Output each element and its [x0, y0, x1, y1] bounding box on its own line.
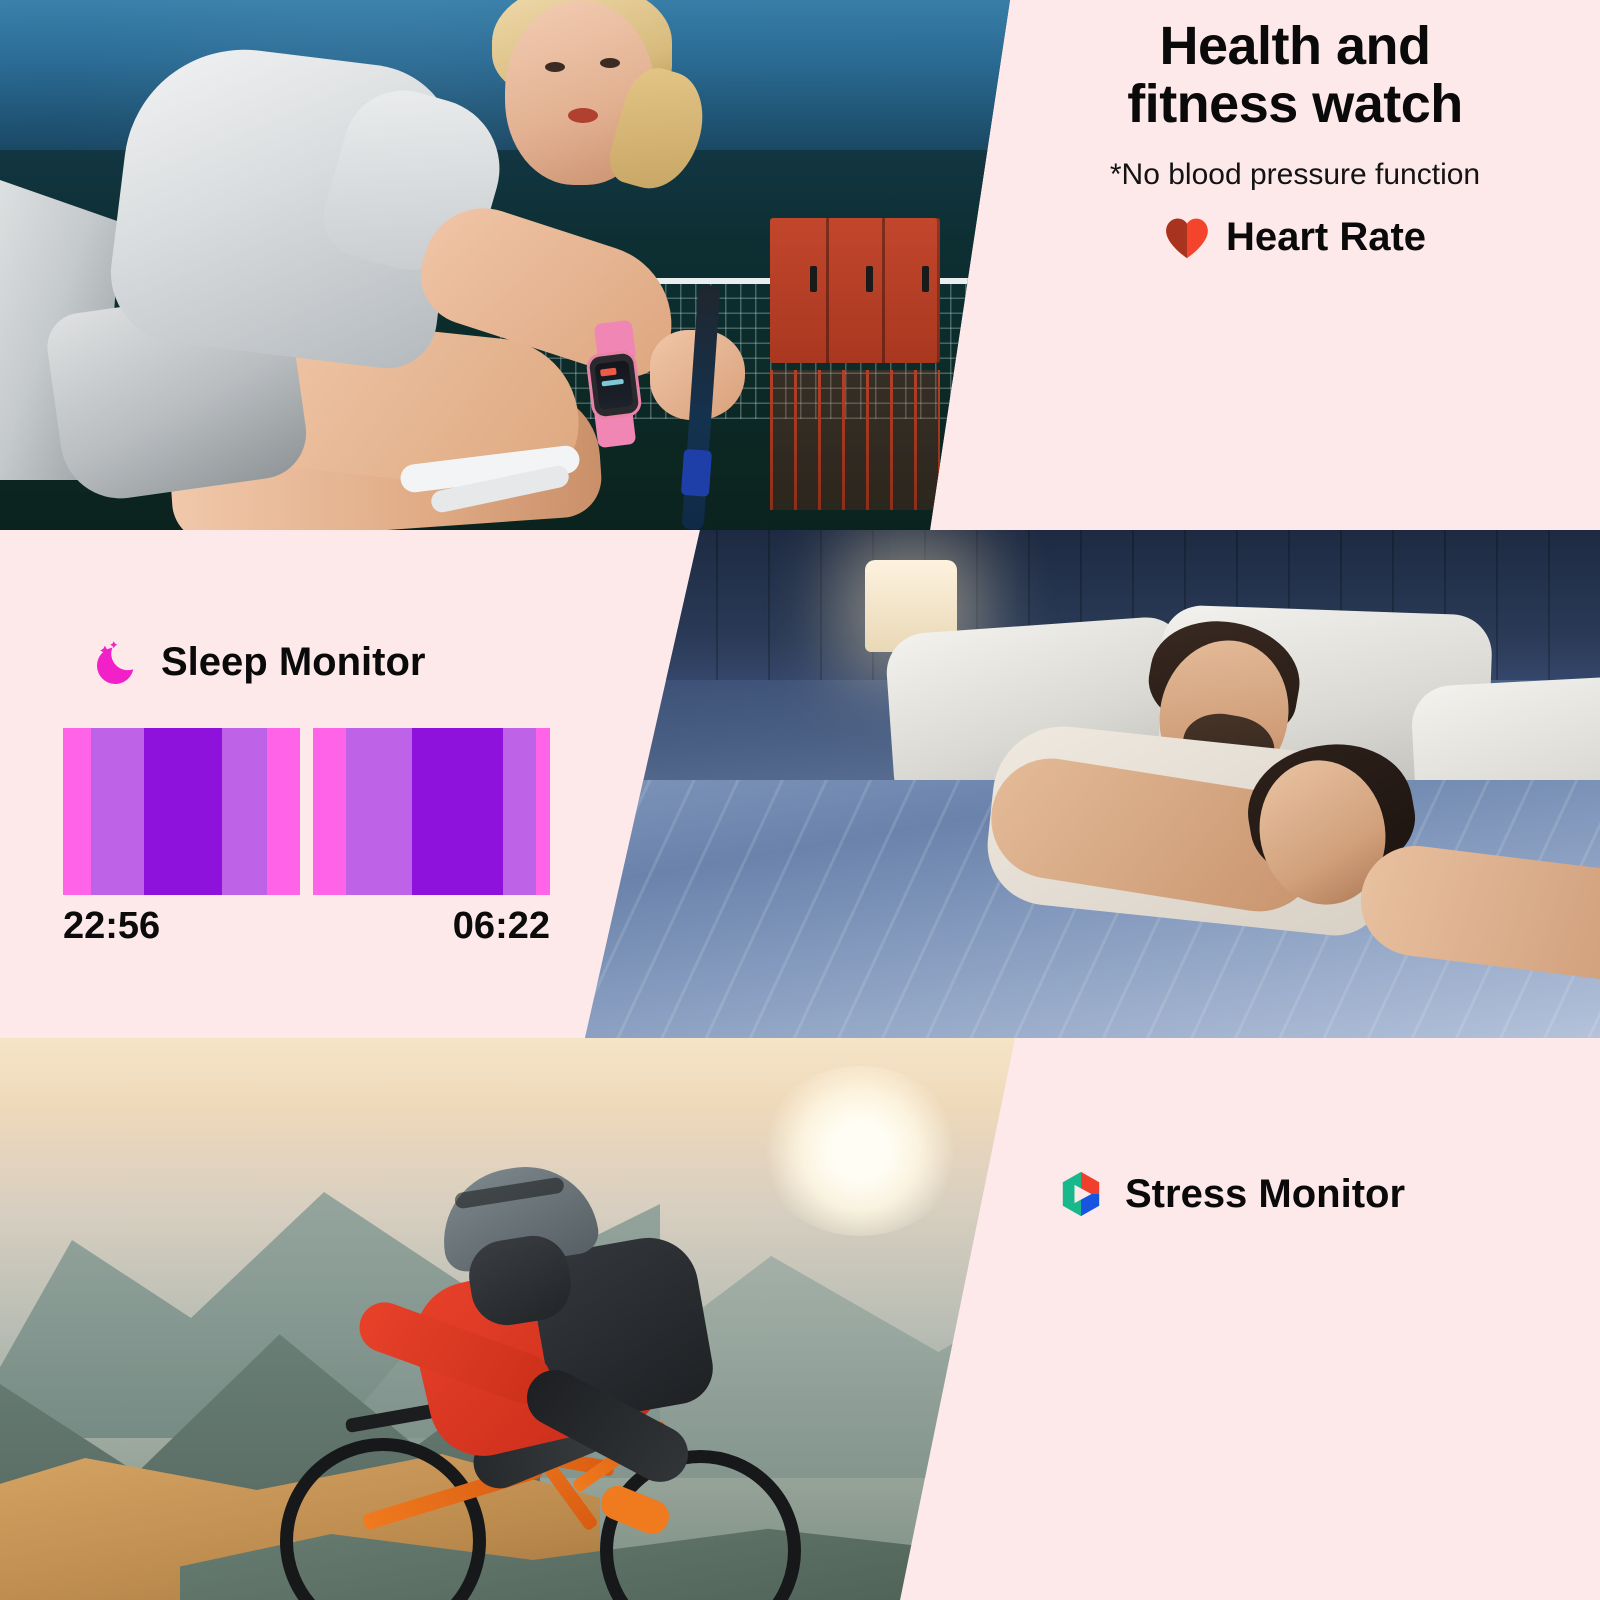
panel-heart-rate: Health and fitness watch *No blood press… [1010, 0, 1600, 530]
heart-rate-header: Heart Rate [1010, 215, 1580, 260]
sleep-stage-segment-light [222, 728, 267, 895]
sleep-start-time: 22:56 [63, 905, 160, 948]
sleep-stage-segment-awake [313, 728, 346, 895]
title-line-2: fitness watch [1010, 76, 1580, 134]
sleep-end-time: 06:22 [453, 905, 550, 948]
row-sleep-bedroom: Sleep Monitor 22:56 06:22 [0, 530, 1600, 1038]
sleep-stage-segment-light [346, 728, 412, 895]
panel-sleep-monitor: Sleep Monitor 22:56 06:22 [0, 530, 560, 1038]
sleep-stage-segment-awake [536, 728, 550, 895]
smartwatch-on-wrist [589, 353, 640, 418]
sleep-monitor-header: Sleep Monitor [95, 638, 425, 686]
sleep-stage-segment-light [91, 728, 143, 895]
sleep-time-range: 22:56 06:22 [63, 905, 550, 948]
sleep-stage-bars [63, 728, 550, 895]
sleep-bar-gap [300, 728, 313, 895]
sleep-monitor-label: Sleep Monitor [161, 640, 425, 685]
heart-rate-label: Heart Rate [1226, 215, 1426, 260]
red-netting [770, 370, 940, 510]
panel-stress-monitor: Stress Monitor 100806030 00:0012:0000:00 [1015, 1038, 1600, 1600]
title-line-1: Health and [1010, 18, 1580, 76]
page-title: Health and fitness watch [1010, 18, 1580, 134]
stress-monitor-label: Stress Monitor [1125, 1172, 1405, 1217]
title-disclaimer: *No blood pressure function [1010, 158, 1580, 192]
product-infographic: Health and fitness watch *No blood press… [0, 0, 1600, 1600]
crescent-moon-stars-icon [95, 638, 143, 686]
photo-couple-sleeping [560, 530, 1600, 1038]
row-tennis-heartrate: Health and fitness watch *No blood press… [0, 0, 1600, 530]
photo-woman-tennis [0, 0, 1010, 530]
sleep-stage-segment-awake [267, 728, 300, 895]
row-cycling-stress: Stress Monitor 100806030 00:0012:0000:00 [0, 1038, 1600, 1600]
sleep-stage-segment-light [503, 728, 536, 895]
sleep-stage-segment-deep [412, 728, 502, 895]
woman-eye-left [545, 62, 565, 72]
sleep-stage-segment-awake [63, 728, 91, 895]
woman-eye-right [600, 58, 620, 68]
sleep-stage-segment-deep [144, 728, 222, 895]
sleep-bar-first-half [63, 728, 300, 895]
photo-mountain-biker [0, 1038, 1015, 1600]
woman-lips [568, 108, 598, 123]
stress-monitor-header: Stress Monitor [1055, 1168, 1405, 1220]
sleep-bar-second-half [313, 728, 550, 895]
heart-icon [1164, 217, 1210, 259]
hexagon-stress-icon [1055, 1168, 1107, 1220]
lockers [770, 218, 940, 363]
sun-glow [760, 1066, 960, 1236]
